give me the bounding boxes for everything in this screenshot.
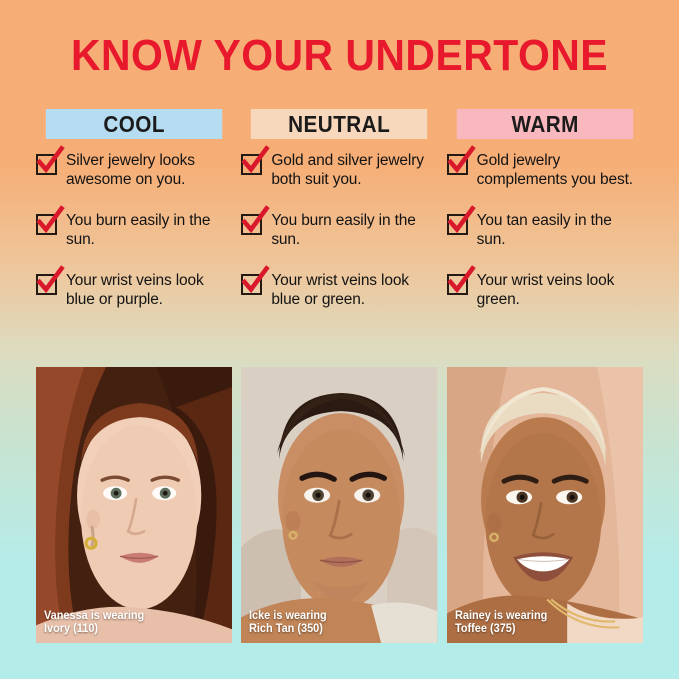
checklist-item-label: Your wrist veins look green. xyxy=(477,272,643,309)
checklist-columns: Silver jewelry looks awesome on you. You… xyxy=(36,152,643,332)
checklist-item[interactable]: You burn easily in the sun. xyxy=(241,212,437,249)
caption-line-2: Rich Tan (350) xyxy=(249,623,327,636)
caption-line-1: Vanessa is wearing xyxy=(44,610,144,622)
checklist-item[interactable]: You tan easily in the sun. xyxy=(447,212,643,249)
checklist-item-label: Silver jewelry looks awesome on you. xyxy=(66,152,232,189)
caption-line-1: Icke is wearing xyxy=(249,610,327,622)
model-photo-neutral: Icke is wearing Rich Tan (350) xyxy=(241,367,437,643)
checkmark-icon[interactable] xyxy=(241,214,262,235)
checklist-column-cool: Silver jewelry looks awesome on you. You… xyxy=(36,152,232,332)
model-portrait-rainey xyxy=(447,367,643,643)
photo-caption-vanessa: Vanessa is wearing Ivory (110) xyxy=(44,610,144,635)
model-photos: Vanessa is wearing Ivory (110) xyxy=(36,367,643,643)
checkmark-icon[interactable] xyxy=(447,274,468,295)
page-title: KNOW YOUR UNDERTONE xyxy=(24,33,655,79)
checklist-item[interactable]: Your wrist veins look blue or green. xyxy=(241,272,437,309)
checklist-column-neutral: Gold and silver jewelry both suit you. Y… xyxy=(241,152,437,332)
column-header-cool: COOL xyxy=(46,109,223,139)
column-header-label: COOL xyxy=(103,111,165,138)
checklist-item[interactable]: Gold and silver jewelry both suit you. xyxy=(241,152,437,189)
model-portrait-vanessa xyxy=(36,367,232,643)
model-photo-cool: Vanessa is wearing Ivory (110) xyxy=(36,367,232,643)
caption-line-2: Toffee (375) xyxy=(455,623,547,636)
caption-line-1: Rainey is wearing xyxy=(455,610,547,622)
checkmark-icon[interactable] xyxy=(447,154,468,175)
checklist-item-label: You burn easily in the sun. xyxy=(66,212,232,249)
checklist-item-label: You burn easily in the sun. xyxy=(271,212,437,249)
checkmark-icon[interactable] xyxy=(36,214,57,235)
checklist-item[interactable]: You burn easily in the sun. xyxy=(36,212,232,249)
checklist-item[interactable]: Silver jewelry looks awesome on you. xyxy=(36,152,232,189)
model-photo-warm: Rainey is wearing Toffee (375) xyxy=(447,367,643,643)
model-portrait-icke xyxy=(241,367,437,643)
undertone-poster: KNOW YOUR UNDERTONE COOL NEUTRAL WARM Si… xyxy=(0,0,679,679)
checkmark-icon[interactable] xyxy=(447,214,468,235)
checklist-item[interactable]: Your wrist veins look green. xyxy=(447,272,643,309)
checklist-item[interactable]: Gold jewelry complements you best. xyxy=(447,152,643,189)
checklist-item[interactable]: Your wrist veins look blue or purple. xyxy=(36,272,232,309)
checkmark-icon[interactable] xyxy=(241,154,262,175)
column-header-label: WARM xyxy=(511,111,578,138)
checklist-item-label: Your wrist veins look blue or green. xyxy=(271,272,437,309)
photo-caption-icke: Icke is wearing Rich Tan (350) xyxy=(249,610,327,635)
column-header-neutral: NEUTRAL xyxy=(251,109,428,139)
checkmark-icon[interactable] xyxy=(36,154,57,175)
column-headers: COOL NEUTRAL WARM xyxy=(36,109,643,139)
photo-caption-rainey: Rainey is wearing Toffee (375) xyxy=(455,610,547,635)
checklist-item-label: Gold jewelry complements you best. xyxy=(477,152,643,189)
checkmark-icon[interactable] xyxy=(36,274,57,295)
checklist-item-label: Your wrist veins look blue or purple. xyxy=(66,272,232,309)
checkmark-icon[interactable] xyxy=(241,274,262,295)
checklist-item-label: You tan easily in the sun. xyxy=(477,212,643,249)
column-header-label: NEUTRAL xyxy=(288,111,390,138)
caption-line-2: Ivory (110) xyxy=(44,623,144,636)
column-header-warm: WARM xyxy=(456,109,633,139)
checklist-item-label: Gold and silver jewelry both suit you. xyxy=(271,152,437,189)
checklist-column-warm: Gold jewelry complements you best. You t… xyxy=(447,152,643,332)
